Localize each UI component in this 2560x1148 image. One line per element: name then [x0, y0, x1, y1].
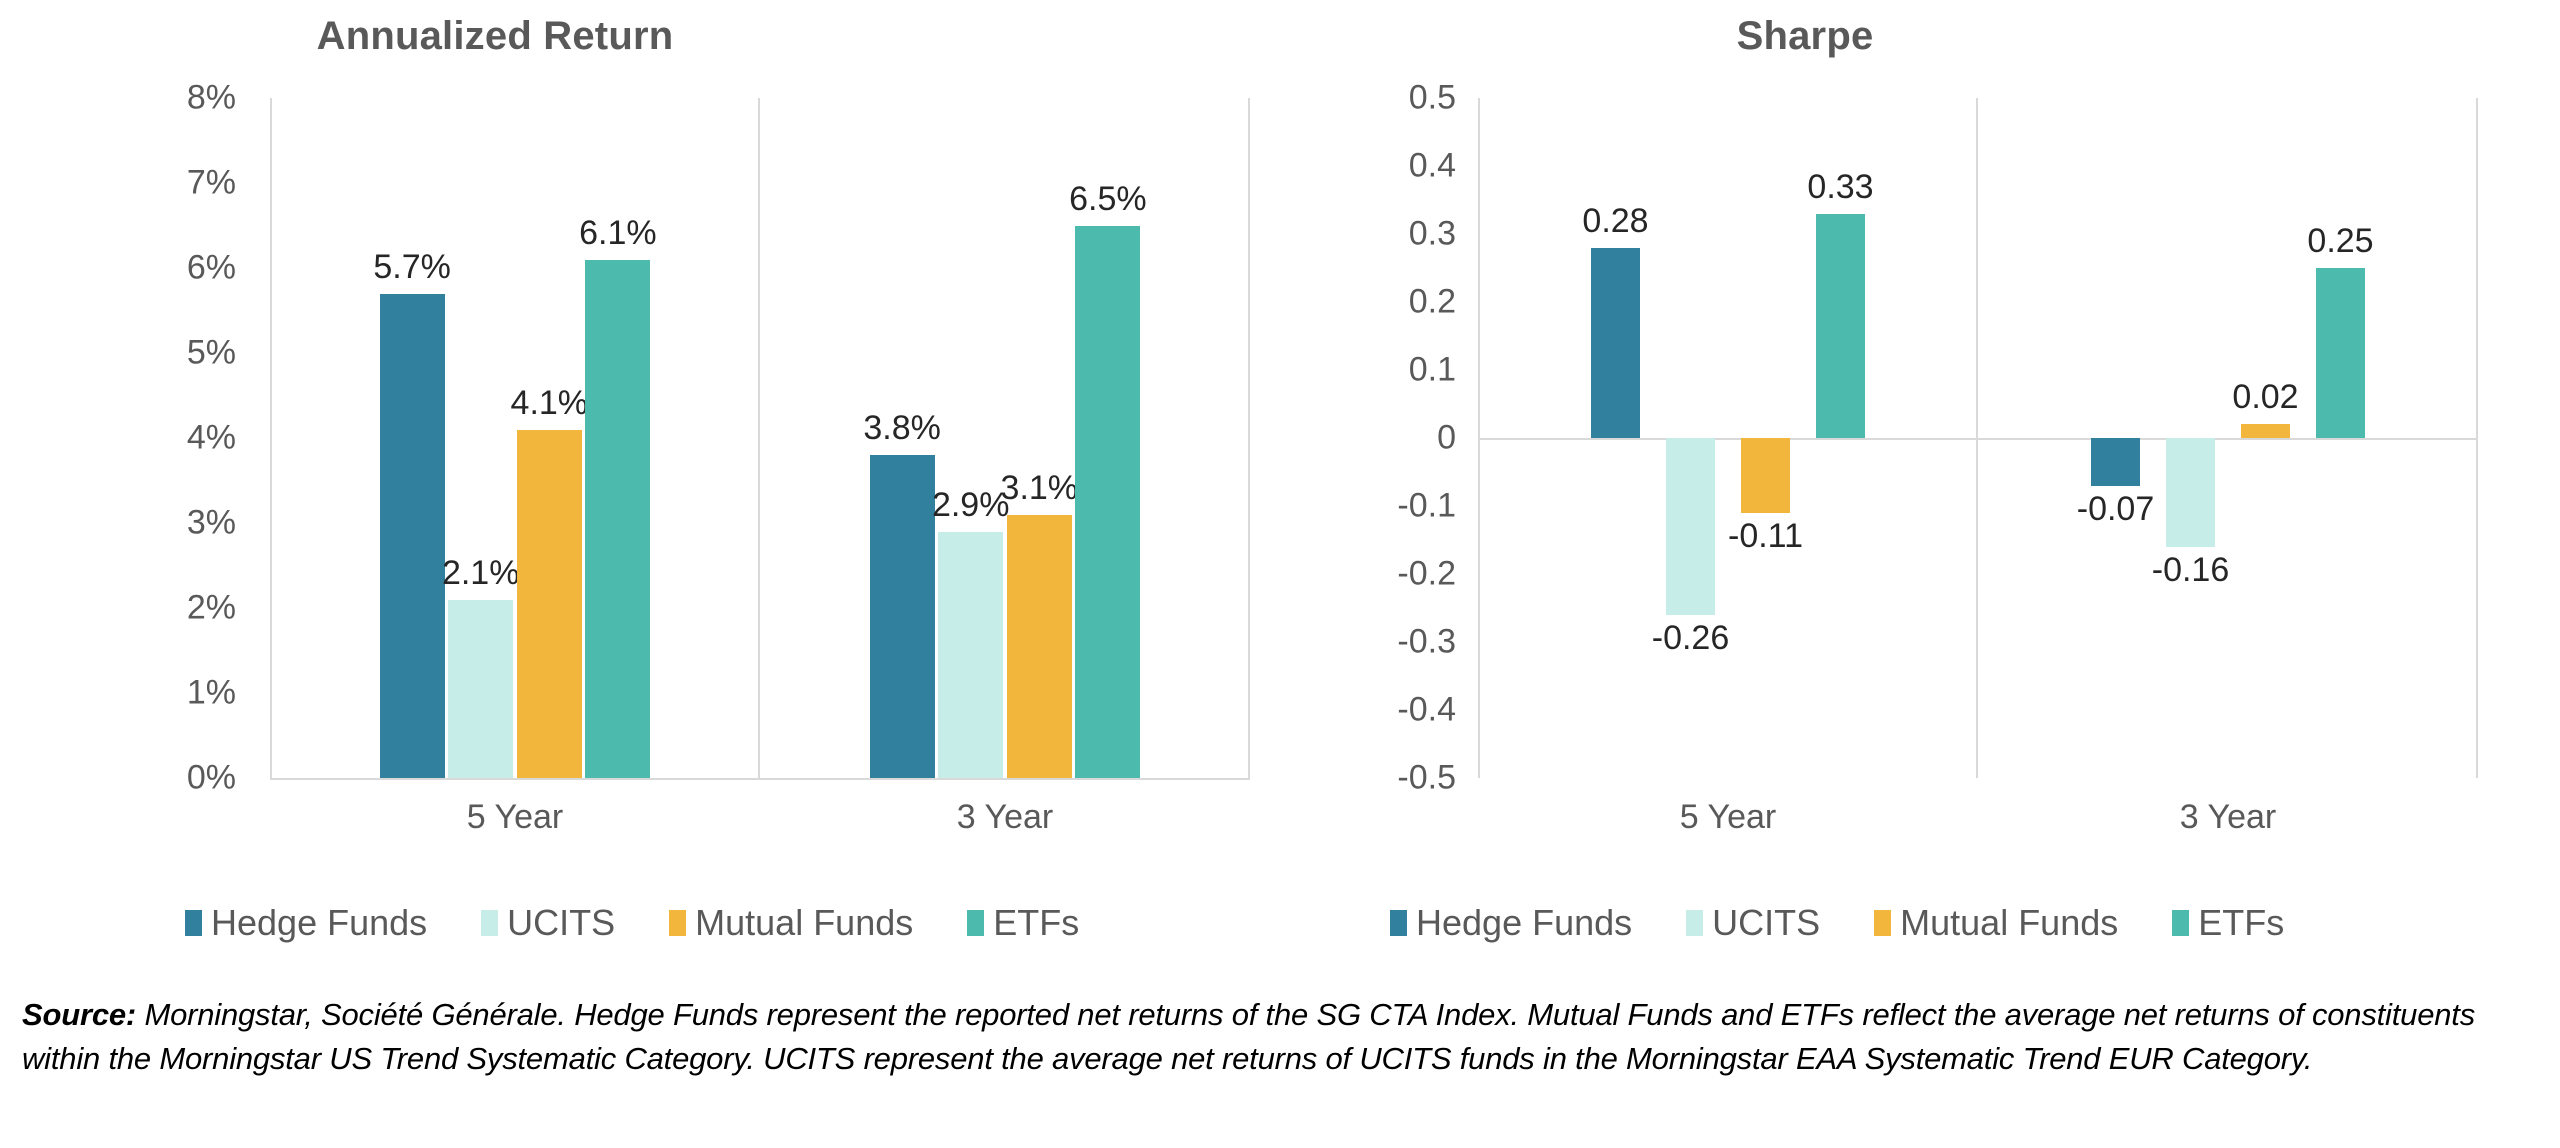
legend-swatch-icon: [669, 910, 686, 936]
legend-sharpe: Hedge FundsUCITSMutual FundsETFs: [1390, 902, 2284, 944]
zero-baseline: [270, 778, 1250, 780]
legend-label: Hedge Funds: [211, 902, 427, 944]
bar-etfs[interactable]: [2316, 268, 2366, 438]
bar-group: 0.28-0.26-0.110.335 Year: [1478, 98, 1978, 778]
legend-label: Mutual Funds: [695, 902, 913, 944]
bar-value-label: 4.1%: [511, 384, 589, 423]
y-tick-label: 0.2: [1409, 283, 1456, 322]
bar-etfs[interactable]: [1816, 214, 1866, 438]
bar-value-label: 0.02: [2232, 378, 2298, 417]
bar-ucits[interactable]: [2166, 438, 2216, 547]
y-tick-label: 7%: [187, 164, 236, 203]
legend-label: UCITS: [507, 902, 615, 944]
bar-value-label: 3.8%: [863, 409, 941, 448]
legend-swatch-icon: [1686, 910, 1703, 936]
bar-value-label: 2.1%: [442, 554, 520, 593]
y-tick-label: 0: [1437, 419, 1456, 458]
group-separator: [1248, 98, 1250, 778]
bar-ucits[interactable]: [1666, 438, 1716, 615]
y-tick-label: 0.1: [1409, 351, 1456, 390]
bar-hedge-funds[interactable]: [380, 294, 445, 779]
y-tick-label: -0.3: [1397, 623, 1456, 662]
bar-ucits[interactable]: [938, 532, 1003, 779]
legend-label: UCITS: [1712, 902, 1820, 944]
legend-swatch-icon: [185, 910, 202, 936]
legend-swatch-icon: [1874, 910, 1891, 936]
source-label: Source:: [22, 997, 136, 1032]
y-tick-label: 0.3: [1409, 215, 1456, 254]
bar-value-label: -0.26: [1652, 619, 1730, 658]
legend-swatch-icon: [967, 910, 984, 936]
category-label: 3 Year: [957, 798, 1053, 837]
bar-value-label: 5.7%: [373, 248, 451, 287]
bar-value-label: -0.07: [2077, 490, 2155, 529]
source-text: Morningstar, Société Générale. Hedge Fun…: [22, 997, 2475, 1076]
group-separator: [2476, 98, 2478, 778]
y-tick-label: 0.5: [1409, 79, 1456, 118]
bar-value-label: -0.16: [2152, 551, 2230, 590]
y-tick-label: -0.1: [1397, 487, 1456, 526]
bar-hedge-funds[interactable]: [1591, 248, 1641, 438]
chart-page: Annualized Return 0%1%2%3%4%5%6%7%8% 5.7…: [0, 0, 2560, 1148]
bar-value-label: 6.5%: [1069, 180, 1147, 219]
bar-hedge-funds[interactable]: [2091, 438, 2141, 486]
chart-title-sharpe: Sharpe: [1170, 14, 2440, 59]
legend-item-mutual-funds[interactable]: Mutual Funds: [1874, 902, 2118, 944]
legend-item-ucits[interactable]: UCITS: [481, 902, 615, 944]
y-tick-label: -0.4: [1397, 691, 1456, 730]
bar-mutual-funds[interactable]: [517, 430, 582, 779]
y-tick-label: 8%: [187, 79, 236, 118]
bar-ucits[interactable]: [448, 600, 513, 779]
y-tick-label: 0%: [187, 759, 236, 798]
y-tick-label: 1%: [187, 674, 236, 713]
bar-group: -0.07-0.160.020.253 Year: [1978, 98, 2478, 778]
bar-mutual-funds[interactable]: [1007, 515, 1072, 779]
legend-item-hedge-funds[interactable]: Hedge Funds: [1390, 902, 1632, 944]
bar-value-label: 2.9%: [932, 486, 1010, 525]
bar-value-label: 3.1%: [1001, 469, 1079, 508]
category-label: 5 Year: [1680, 798, 1776, 837]
legend-label: ETFs: [2198, 902, 2284, 944]
legend-item-etfs[interactable]: ETFs: [2172, 902, 2284, 944]
y-tick-label: -0.2: [1397, 555, 1456, 594]
category-label: 3 Year: [2180, 798, 2276, 837]
bar-value-label: 0.25: [2307, 222, 2373, 261]
y-tick-label: 4%: [187, 419, 236, 458]
chart-title-annualized-return: Annualized Return: [0, 14, 1140, 59]
legend-item-hedge-funds[interactable]: Hedge Funds: [185, 902, 427, 944]
bar-value-label: 0.28: [1582, 202, 1648, 241]
y-tick-label: 0.4: [1409, 147, 1456, 186]
bar-group: 3.8%2.9%3.1%6.5%3 Year: [760, 98, 1250, 778]
legend-label: Mutual Funds: [1900, 902, 2118, 944]
plot-area-annualized-return: 5.7%2.1%4.1%6.1%5 Year3.8%2.9%3.1%6.5%3 …: [270, 98, 1250, 778]
legend-swatch-icon: [1390, 910, 1407, 936]
bar-hedge-funds[interactable]: [870, 455, 935, 778]
bar-value-label: 6.1%: [579, 214, 657, 253]
legend-item-mutual-funds[interactable]: Mutual Funds: [669, 902, 913, 944]
y-axis-labels-sharpe: 0.50.40.30.20.10-0.1-0.2-0.3-0.4-0.5: [1320, 98, 1470, 778]
bar-mutual-funds[interactable]: [2241, 424, 2291, 438]
y-tick-label: 3%: [187, 504, 236, 543]
y-tick-label: 5%: [187, 334, 236, 373]
legend-label: ETFs: [993, 902, 1079, 944]
y-tick-label: 6%: [187, 249, 236, 288]
bar-value-label: -0.11: [1728, 517, 1803, 556]
plot-area-sharpe: 0.28-0.26-0.110.335 Year-0.07-0.160.020.…: [1478, 98, 2478, 778]
y-axis-labels-annualized-return: 0%1%2%3%4%5%6%7%8%: [100, 98, 250, 778]
bar-etfs[interactable]: [585, 260, 650, 779]
bar-group: 5.7%2.1%4.1%6.1%5 Year: [270, 98, 760, 778]
legend-item-ucits[interactable]: UCITS: [1686, 902, 1820, 944]
y-tick-label: -0.5: [1397, 759, 1456, 798]
y-tick-label: 2%: [187, 589, 236, 628]
legend-label: Hedge Funds: [1416, 902, 1632, 944]
legend-swatch-icon: [2172, 910, 2189, 936]
bar-mutual-funds[interactable]: [1741, 438, 1791, 513]
legend-item-etfs[interactable]: ETFs: [967, 902, 1079, 944]
bar-etfs[interactable]: [1075, 226, 1140, 779]
legend-annualized-return: Hedge FundsUCITSMutual FundsETFs: [185, 902, 1079, 944]
category-label: 5 Year: [467, 798, 563, 837]
bar-value-label: 0.33: [1807, 168, 1873, 207]
legend-swatch-icon: [481, 910, 498, 936]
source-footnote: Source: Morningstar, Société Générale. H…: [22, 993, 2502, 1081]
